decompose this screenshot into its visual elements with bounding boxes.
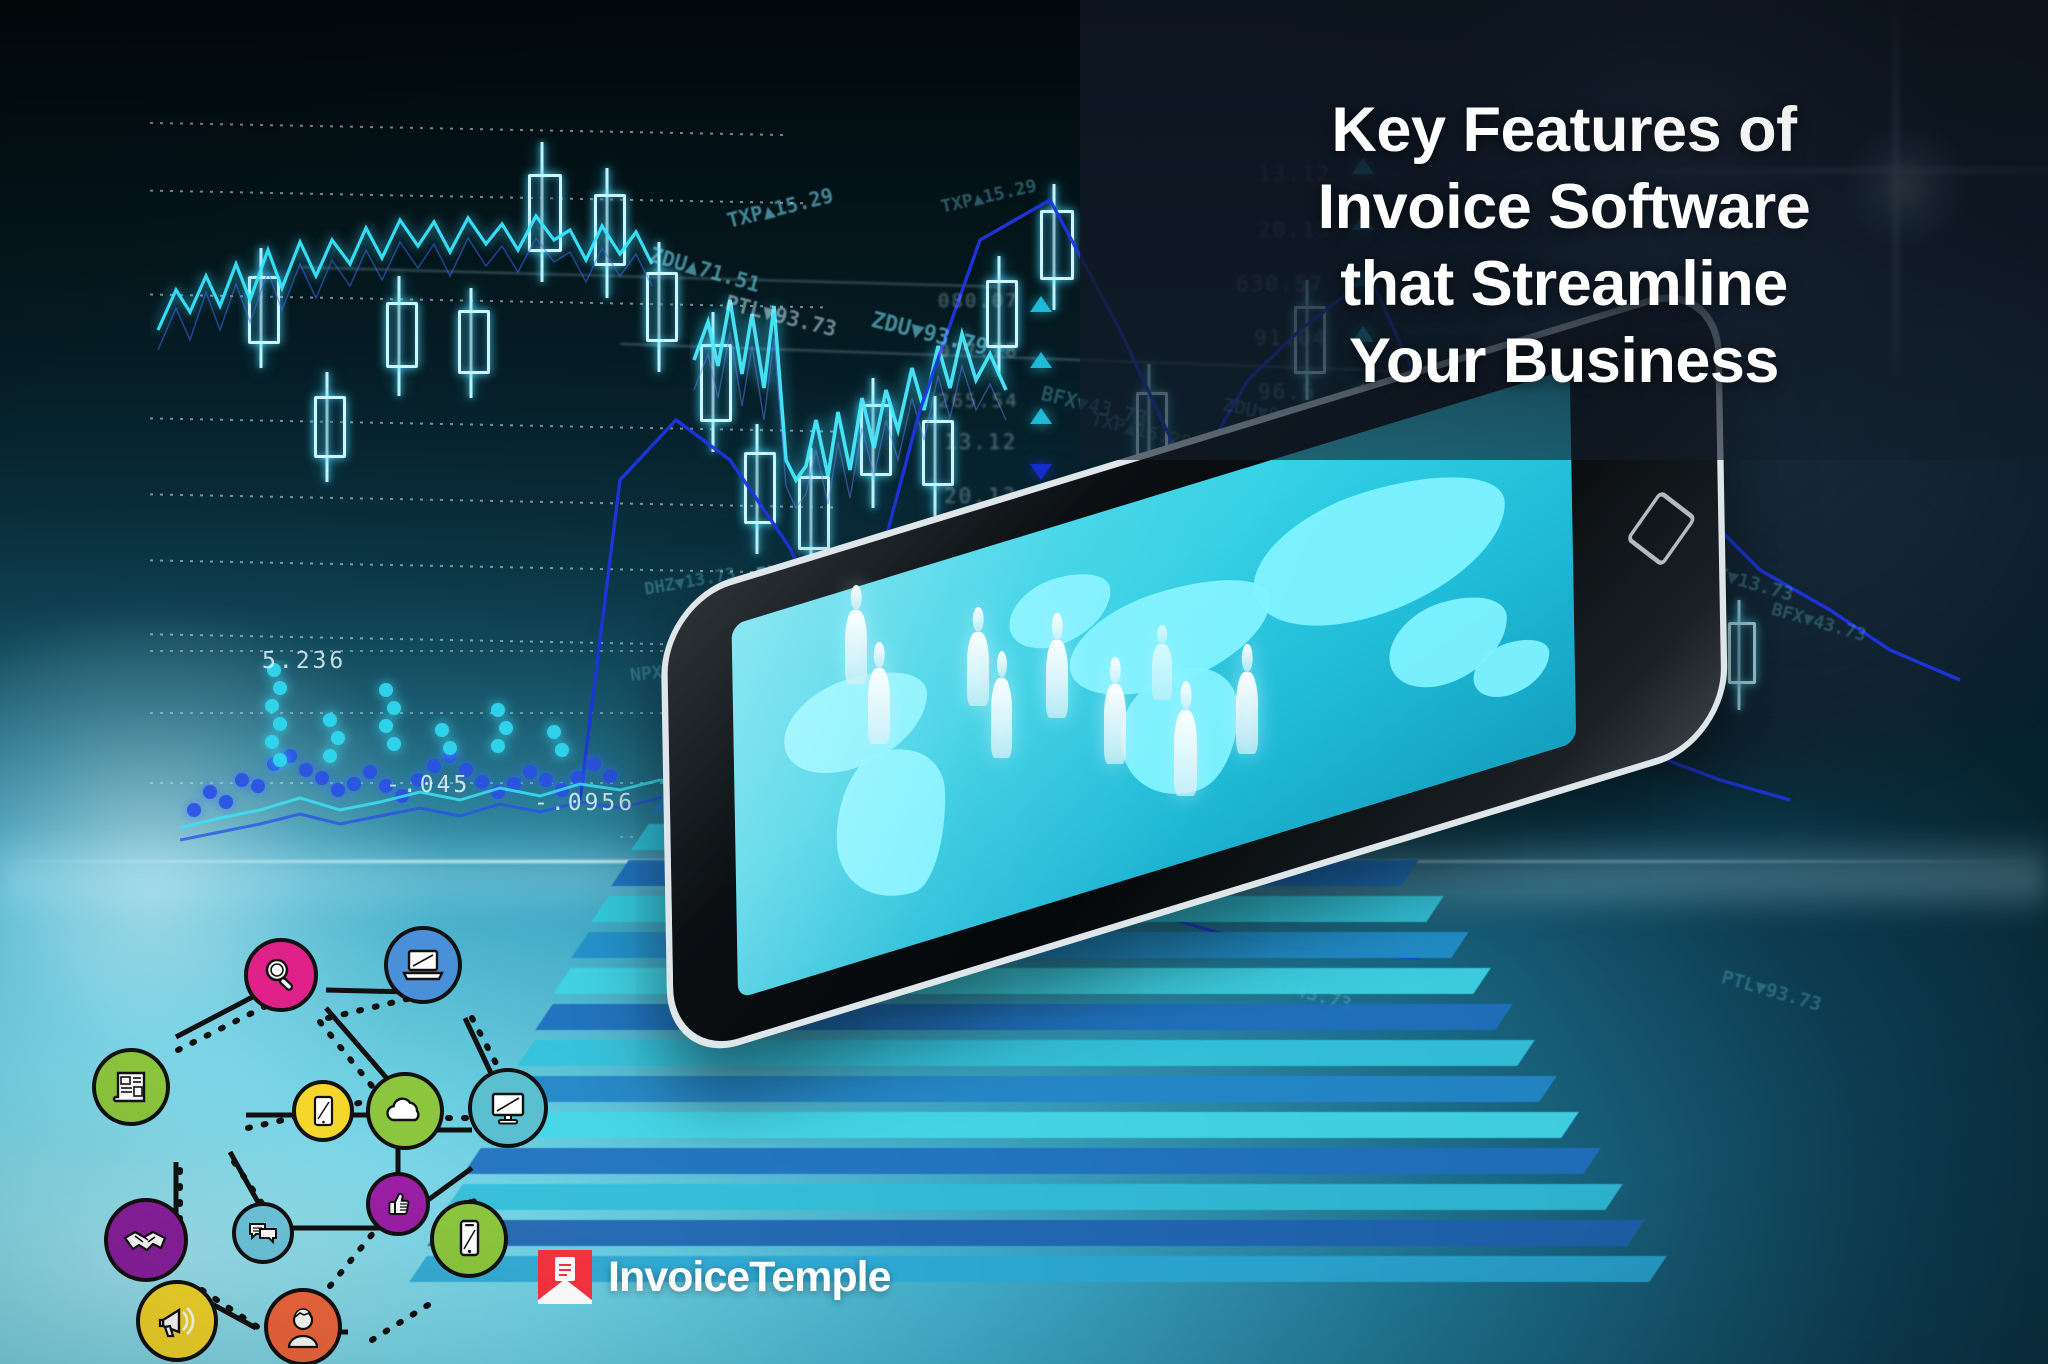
vignette-overlay [0, 0, 2048, 1364]
banner-canvas: 13.12 20.13 630.57 91.04 96.5 37.06 87.0… [0, 0, 2048, 1364]
